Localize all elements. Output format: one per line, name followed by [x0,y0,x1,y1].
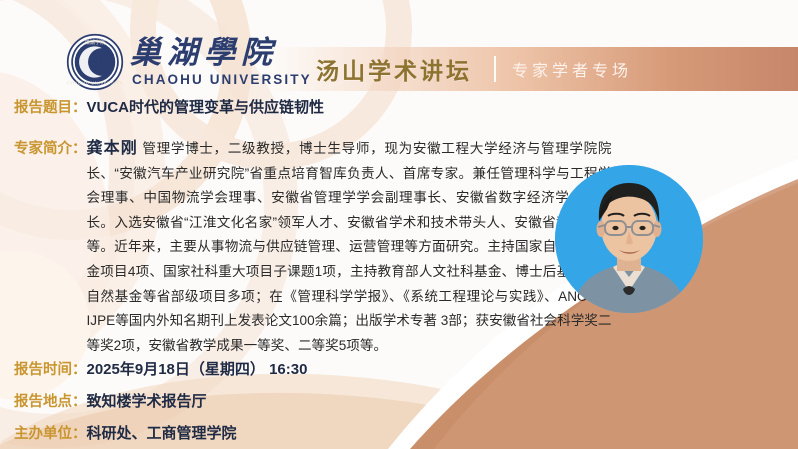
topic-label: 报告题目： [14,96,87,117]
place-value: 致知楼学术报告厅 [87,390,207,411]
place-row: 报告地点： 致知楼学术报告厅 [14,390,207,411]
time-row: 报告时间： 2025年9月18日（星期四） 16:30 [14,358,307,379]
place-label: 报告地点： [14,390,87,411]
organizer-row: 主办单位： 科研处、工商管理学院 [14,422,237,443]
speaker-name: 龚本刚 [87,140,138,157]
time-label: 报告时间： [14,358,87,379]
organizer-value: 科研处、工商管理学院 [87,422,237,443]
topic-value: VUCA时代的管理变革与供应链韧性 [87,96,325,117]
organizer-label: 主办单位： [14,422,87,443]
speaker-bio-text: 管理学博士，二级教授，博士生导师，现为安徽工程大学经济与管理学院院长、“安徽汽车… [87,141,612,353]
speaker-portrait [555,165,703,313]
lecture-poster: 汤山学术讲坛 专家学者专场 巢湖学院 CHAOHU UNIVERSITY [0,0,798,449]
topic-row: 报告题目： VUCA时代的管理变革与供应链韧性 [14,96,324,117]
speaker-label: 专家简介： [14,137,87,158]
poster-content: 报告题目： VUCA时代的管理变革与供应链韧性 专家简介： 龚本刚 管理学博士，… [0,0,798,449]
time-value: 2025年9月18日（星期四） 16:30 [87,358,308,379]
speaker-bio: 龚本刚 管理学博士，二级教授，博士生导师，现为安徽工程大学经济与管理学院院长、“… [87,137,612,358]
